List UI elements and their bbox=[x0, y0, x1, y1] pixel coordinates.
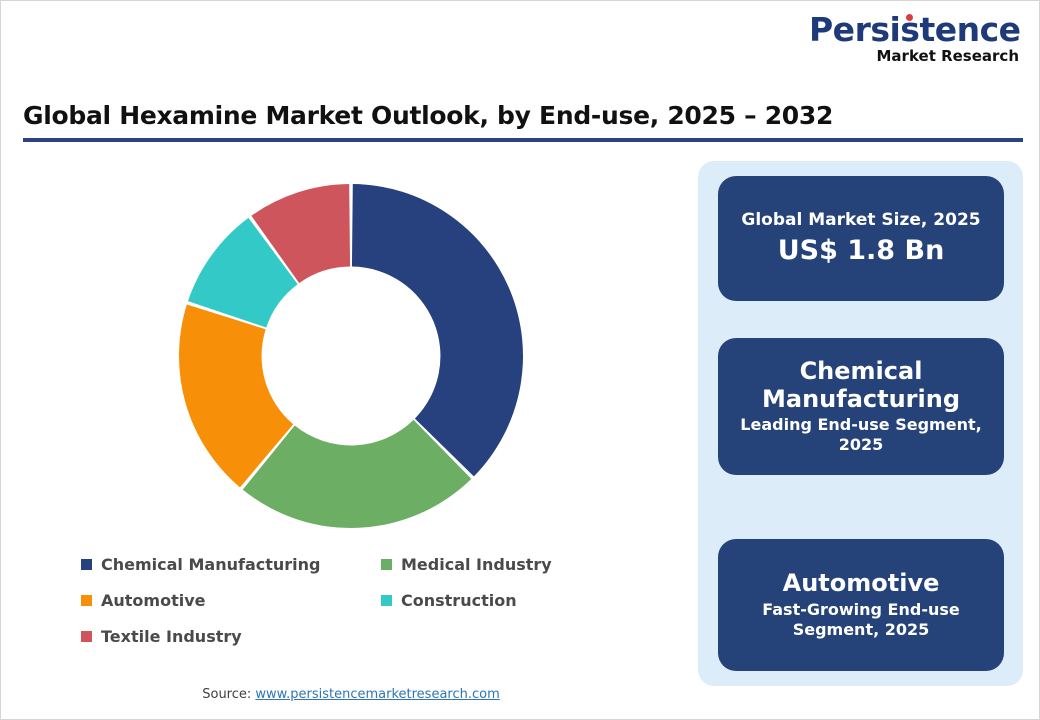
market-size-value: US$ 1.8 Bn bbox=[778, 235, 945, 267]
legend-item-label: Automotive bbox=[101, 591, 206, 610]
legend-item: Medical Industry bbox=[381, 547, 681, 583]
legend-swatch-icon bbox=[81, 631, 92, 642]
donut-slice bbox=[352, 184, 523, 476]
legend-item: Textile Industry bbox=[81, 619, 381, 655]
stat-card-fastest-segment: Automotive Fast-Growing End-use Segment,… bbox=[718, 539, 1004, 671]
page-title-block: Global Hexamine Market Outlook, by End-u… bbox=[23, 101, 1023, 142]
chart-legend: Chemical ManufacturingMedical IndustryAu… bbox=[81, 547, 681, 655]
fastest-segment-name: Automotive bbox=[783, 570, 940, 597]
leading-segment-caption: Leading End-use Segment, 2025 bbox=[732, 415, 990, 455]
infographic-canvas: Persistence Market Research Global Hexam… bbox=[0, 0, 1040, 720]
legend-swatch-icon bbox=[81, 559, 92, 570]
legend-swatch-icon bbox=[81, 595, 92, 606]
market-size-label: Global Market Size, 2025 bbox=[741, 210, 980, 231]
leading-segment-name-line2: Manufacturing bbox=[762, 386, 960, 413]
stat-card-leading-segment: Chemical Manufacturing Leading End-use S… bbox=[718, 338, 1004, 475]
legend-item: Construction bbox=[381, 583, 681, 619]
legend-item-label: Construction bbox=[401, 591, 517, 610]
legend-item: Chemical Manufacturing bbox=[81, 547, 381, 583]
source-line: Source: www.persistencemarketresearch.co… bbox=[1, 687, 701, 702]
highlights-panel: Global Market Size, 2025 US$ 1.8 Bn Chem… bbox=[698, 161, 1023, 686]
logo-secondary-text: Market Research bbox=[809, 49, 1019, 64]
page-title: Global Hexamine Market Outlook, by End-u… bbox=[23, 101, 1023, 130]
brand-logo: Persistence Market Research bbox=[809, 13, 1019, 64]
legend-item-label: Chemical Manufacturing bbox=[101, 555, 320, 574]
legend-swatch-icon bbox=[381, 595, 392, 606]
fastest-segment-caption: Fast-Growing End-use Segment, 2025 bbox=[732, 600, 990, 640]
legend-item: Automotive bbox=[81, 583, 381, 619]
stat-card-market-size: Global Market Size, 2025 US$ 1.8 Bn bbox=[718, 176, 1004, 301]
source-prefix: Source: bbox=[202, 687, 255, 702]
title-divider bbox=[23, 138, 1023, 142]
legend-item-label: Medical Industry bbox=[401, 555, 552, 574]
donut-slice-group bbox=[179, 184, 523, 528]
legend-swatch-icon bbox=[381, 559, 392, 570]
source-link[interactable]: www.persistencemarketresearch.com bbox=[255, 687, 499, 702]
logo-accent-dot-icon bbox=[906, 14, 913, 21]
donut-chart-area bbox=[21, 161, 681, 551]
legend-item-label: Textile Industry bbox=[101, 627, 242, 646]
leading-segment-name-line1: Chemical bbox=[800, 358, 923, 385]
donut-chart bbox=[166, 171, 536, 541]
logo-primary-text: Persistence bbox=[809, 13, 1019, 46]
